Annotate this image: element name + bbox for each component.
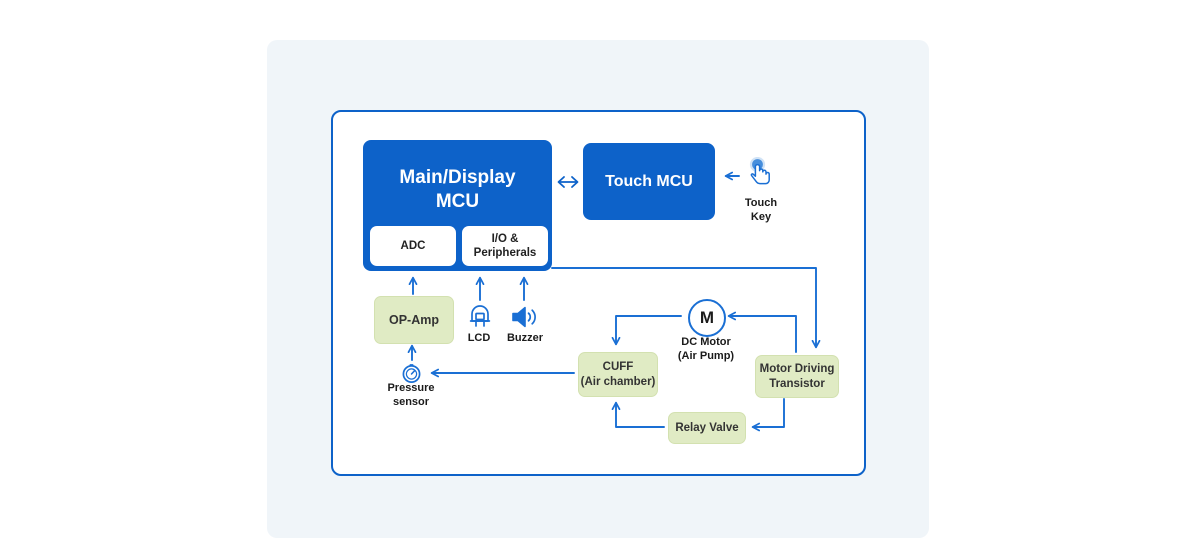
- block-io-peripherals[interactable]: I/O & Peripherals: [462, 226, 548, 266]
- block-cuff[interactable]: CUFF (Air chamber): [578, 352, 658, 397]
- dc-motor-line1: DC Motor: [666, 336, 746, 350]
- adc-label: ADC: [401, 239, 426, 253]
- block-dc-motor[interactable]: M: [688, 299, 726, 337]
- label-buzzer: Buzzer: [500, 332, 550, 346]
- gauge-icon: [401, 363, 422, 384]
- touch-key-line1: Touch: [731, 197, 791, 211]
- label-dc-motor: DC Motor (Air Pump): [666, 336, 746, 364]
- block-touch-mcu[interactable]: Touch MCU: [583, 143, 715, 220]
- diagram-canvas: Main/Display MCU ADC I/O & Peripherals T…: [0, 0, 1191, 558]
- dc-motor-line2: (Air Pump): [666, 350, 746, 364]
- block-relay-valve[interactable]: Relay Valve: [668, 412, 746, 444]
- touch-hand-icon: [744, 157, 778, 191]
- mdt-label-line1: Motor Driving: [760, 362, 835, 377]
- pressure-sensor-line1: Pressure: [380, 382, 442, 396]
- buzzer-text: Buzzer: [507, 332, 543, 344]
- main-mcu-label-line1: Main/Display: [399, 166, 515, 190]
- block-motor-driving-transistor[interactable]: Motor Driving Transistor: [755, 355, 839, 398]
- speaker-buzzer-icon: [510, 303, 540, 331]
- pressure-sensor-line2: sensor: [380, 396, 442, 410]
- lcd-display-icon: [466, 303, 494, 331]
- touch-key-line2: Key: [731, 211, 791, 225]
- block-op-amp[interactable]: OP-Amp: [374, 296, 454, 344]
- touch-mcu-label: Touch MCU: [605, 173, 693, 191]
- io-label-line2: Peripherals: [474, 246, 537, 260]
- cuff-label-line1: CUFF: [581, 360, 656, 375]
- label-pressure-sensor: Pressure sensor: [380, 382, 442, 410]
- motor-symbol-label: M: [700, 308, 714, 328]
- op-amp-label: OP-Amp: [389, 312, 439, 328]
- block-adc[interactable]: ADC: [370, 226, 456, 266]
- io-label-line1: I/O &: [474, 232, 537, 246]
- lcd-text: LCD: [468, 332, 491, 344]
- cuff-label-line2: (Air chamber): [581, 375, 656, 390]
- main-mcu-label-line2: MCU: [399, 190, 515, 214]
- relay-valve-label: Relay Valve: [675, 421, 738, 436]
- label-lcd: LCD: [456, 332, 502, 346]
- mdt-label-line2: Transistor: [760, 377, 835, 392]
- label-touch-key: Touch Key: [731, 197, 791, 225]
